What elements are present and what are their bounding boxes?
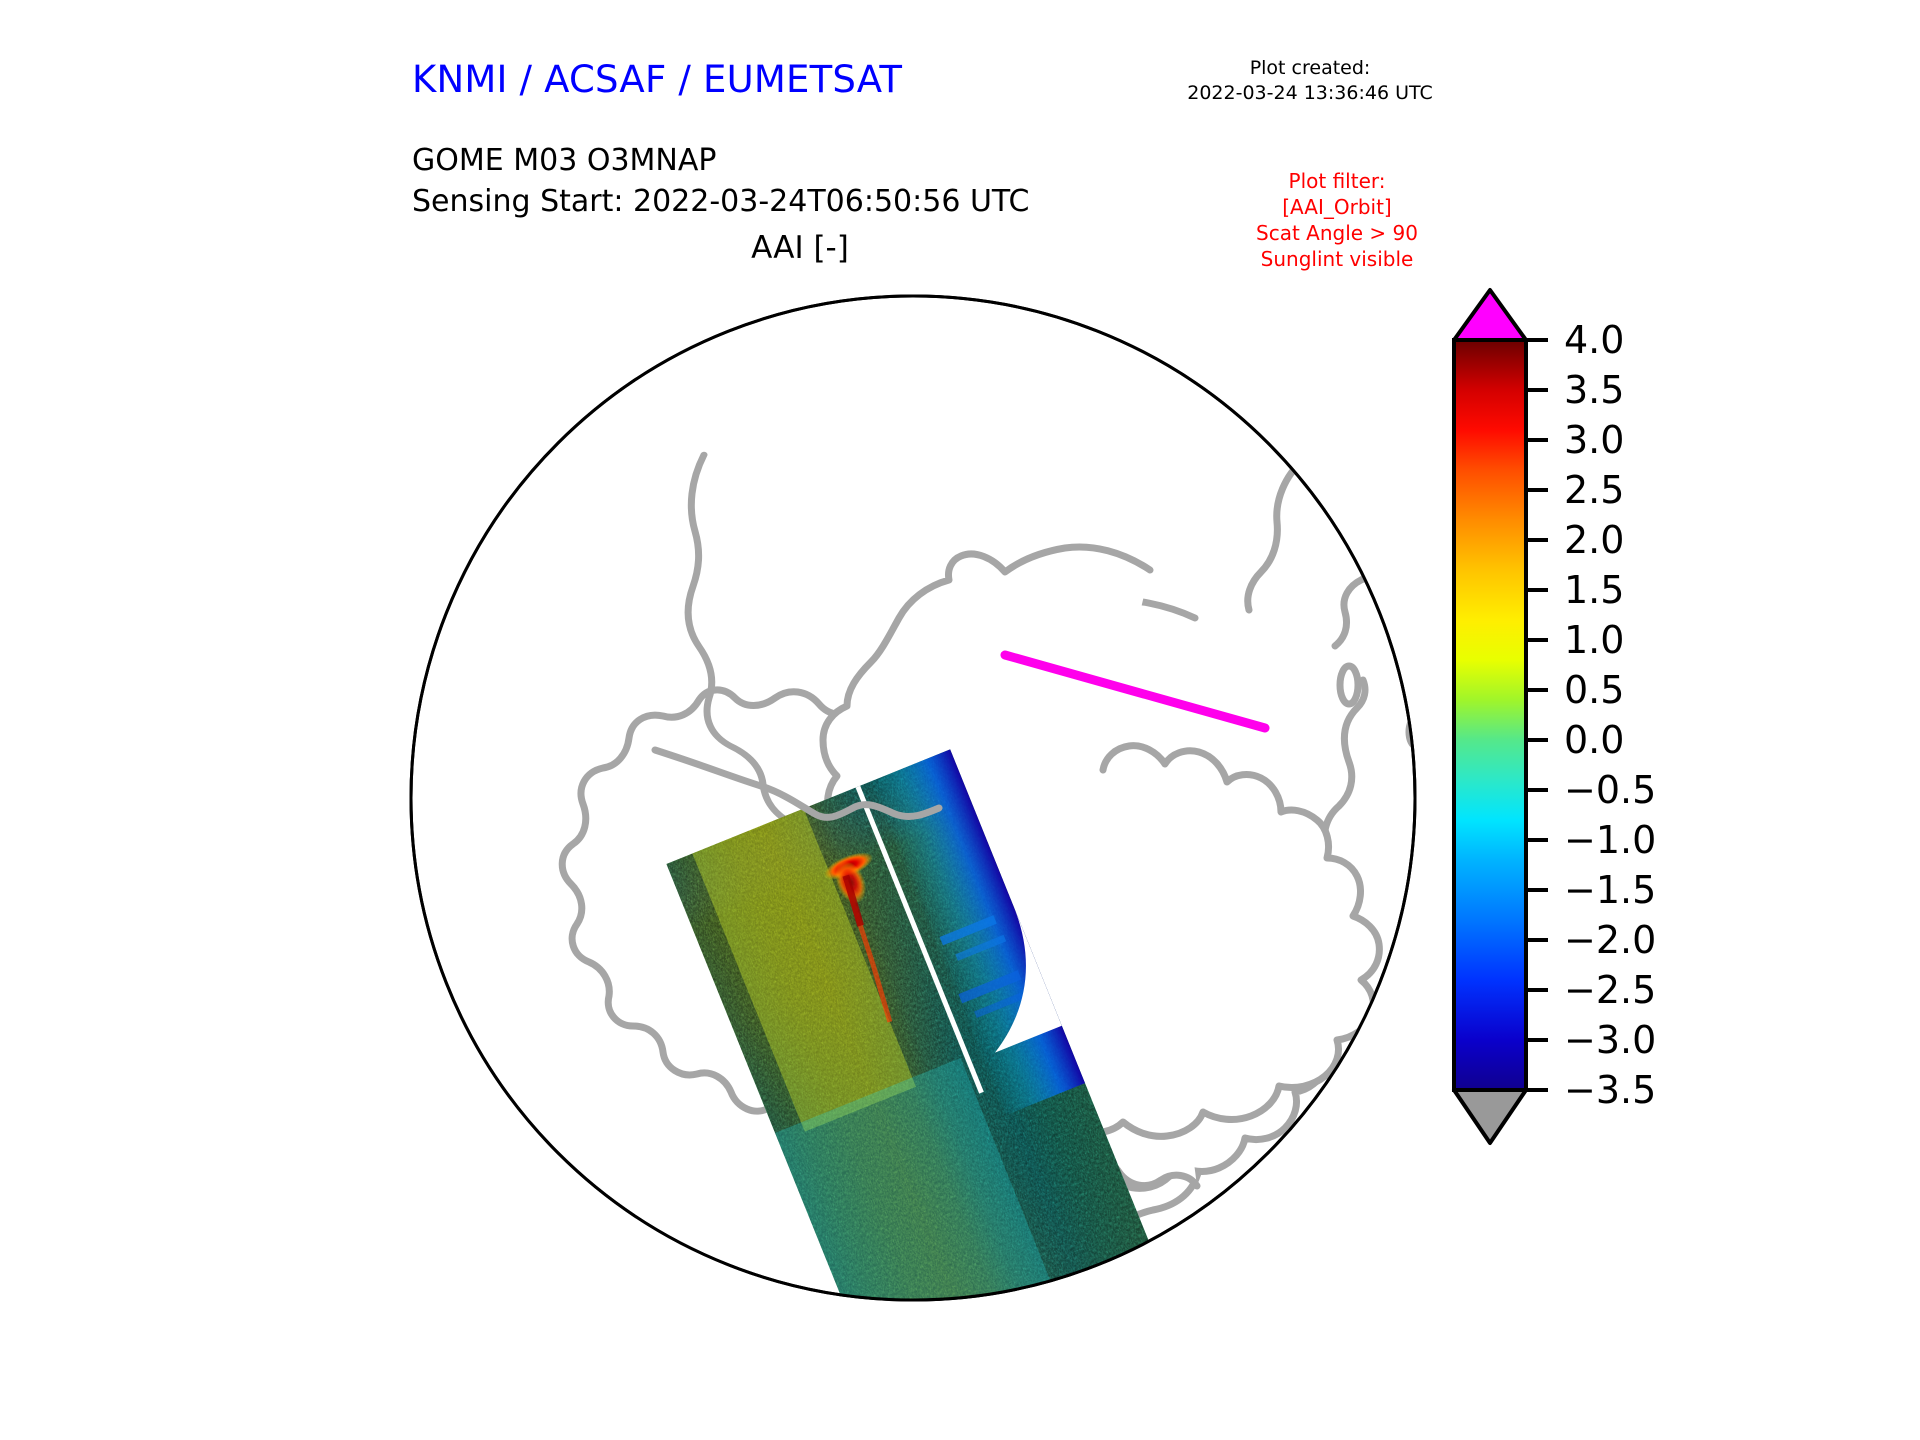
- colorbar: 4.0 3.5 3.0 2.5 2.0 1.5 1.0 0.5 0.0 −0.5…: [1440, 285, 1800, 1315]
- plot-filter-product: [AAI_Orbit]: [1222, 194, 1452, 220]
- colorbar-tick-label: 0.5: [1564, 668, 1624, 712]
- colorbar-ticks: [1526, 340, 1548, 1090]
- plot-filter-block: Plot filter: [AAI_Orbit] Scat Angle > 90…: [1222, 168, 1452, 272]
- organisation-title: KNMI / ACSAF / EUMETSAT: [412, 58, 902, 101]
- colorbar-under-triangle: [1454, 1090, 1526, 1143]
- colorbar-tick-label: −1.0: [1564, 818, 1656, 862]
- dataset-name: GOME M03 O3MNAP: [412, 140, 1029, 181]
- colorbar-tick-label: 1.5: [1564, 568, 1624, 612]
- plot-filter-label: Plot filter:: [1222, 168, 1452, 194]
- dataset-info: GOME M03 O3MNAP Sensing Start: 2022-03-2…: [412, 140, 1029, 222]
- colorbar-tick-label: 4.0: [1564, 318, 1624, 362]
- colorbar-tick-label: 3.5: [1564, 368, 1624, 412]
- colorbar-tick-label: 3.0: [1564, 418, 1624, 462]
- page-title: AAI [-]: [600, 230, 1000, 266]
- plot-created-timestamp: 2022-03-24 13:36:46 UTC: [1160, 81, 1460, 106]
- colorbar-tick-label: −1.5: [1564, 868, 1656, 912]
- colorbar-over-triangle: [1454, 290, 1526, 340]
- colorbar-tick-label: −3.0: [1564, 1018, 1656, 1062]
- colorbar-tick-label: −2.5: [1564, 968, 1656, 1012]
- colorbar-tick-labels: 4.0 3.5 3.0 2.5 2.0 1.5 1.0 0.5 0.0 −0.5…: [1564, 318, 1656, 1112]
- colorbar-tick-label: 2.5: [1564, 468, 1624, 512]
- colorbar-tick-label: 2.0: [1564, 518, 1624, 562]
- colorbar-tick-label: 0.0: [1564, 718, 1624, 762]
- plot-filter-scat-angle: Scat Angle > 90: [1222, 220, 1452, 246]
- colorbar-gradient: [1454, 340, 1526, 1090]
- polar-map: [405, 280, 1425, 1310]
- plot-created-block: Plot created: 2022-03-24 13:36:46 UTC: [1160, 56, 1460, 106]
- colorbar-tick-label: −3.5: [1564, 1068, 1656, 1112]
- plot-filter-sunglint: Sunglint visible: [1222, 246, 1452, 272]
- colorbar-tick-label: 1.0: [1564, 618, 1624, 662]
- colorbar-tick-label: −2.0: [1564, 918, 1656, 962]
- colorbar-tick-label: −0.5: [1564, 768, 1656, 812]
- plot-created-label: Plot created:: [1160, 56, 1460, 81]
- sensing-start: Sensing Start: 2022-03-24T06:50:56 UTC: [412, 181, 1029, 222]
